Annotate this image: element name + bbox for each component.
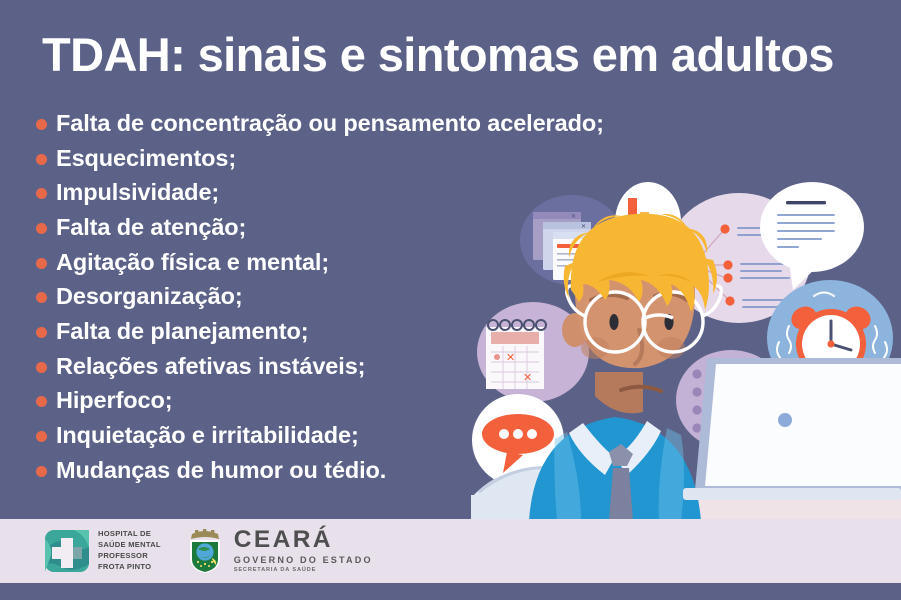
list-item-label: Falta de planejamento;: [56, 318, 308, 345]
ceara-title: CEARÁ: [234, 528, 373, 553]
ceara-department: SECRETARIA DA SAÚDE: [234, 568, 373, 574]
bullet-dot-icon: [36, 258, 47, 269]
ceara-coat-of-arms-icon: [185, 528, 225, 574]
bullet-dot-icon: [36, 292, 47, 303]
list-item: Hiperfoco;: [36, 384, 506, 419]
list-item: Impulsividade;: [36, 175, 506, 210]
bullet-dot-icon: [36, 119, 47, 130]
ceara-subtitle: GOVERNO DO ESTADO: [234, 556, 373, 565]
list-item: Falta de atenção;: [36, 210, 506, 245]
hospital-logo-text: HOSPITAL DE SAÚDE MENTAL PROFESSOR FROTA…: [98, 529, 161, 573]
bottom-strip: [0, 583, 901, 600]
svg-text:✕: ✕: [571, 214, 576, 220]
bullet-dot-icon: [36, 154, 47, 165]
list-item-label: Desorganização;: [56, 283, 243, 310]
list-item: Relações afetivas instáveis;: [36, 349, 506, 384]
list-item-label: Impulsividade;: [56, 179, 219, 206]
illustration-stressed-man: ✕✕✕: [471, 0, 901, 521]
svg-text:✕: ✕: [523, 372, 532, 384]
list-item: Inquietação e irritabilidade;: [36, 418, 506, 453]
ceara-logo-text: CEARÁ GOVERNO DO ESTADO SECRETARIA DA SA…: [234, 528, 373, 573]
list-item-label: Mudanças de humor ou tédio.: [56, 457, 386, 484]
bullet-dot-icon: [36, 362, 47, 373]
hospital-saude-mental-logo: HOSPITAL DE SAÚDE MENTAL PROFESSOR FROTA…: [44, 529, 161, 573]
hospital-line-1: HOSPITAL DE: [98, 529, 161, 540]
list-item: Mudanças de humor ou tédio.: [36, 453, 506, 488]
list-item: Agitação física e mental;: [36, 245, 506, 280]
footer-logos: HOSPITAL DE SAÚDE MENTAL PROFESSOR FROTA…: [44, 527, 373, 575]
bullet-dot-icon: [36, 223, 47, 234]
bullet-dot-icon: [36, 188, 47, 199]
hospital-cross-icon: [44, 529, 90, 573]
list-item-label: Inquietação e irritabilidade;: [56, 422, 359, 449]
list-item-label: Esquecimentos;: [56, 145, 236, 172]
calendar-icon: ✕ ✕: [486, 320, 546, 389]
bullet-dot-icon: [36, 327, 47, 338]
laptop: [683, 358, 901, 500]
svg-text:✕: ✕: [506, 352, 515, 364]
list-item: Esquecimentos;: [36, 141, 506, 176]
list-item: Falta de concentração ou pensamento acel…: [36, 106, 506, 141]
svg-text:✕: ✕: [581, 224, 586, 230]
bullet-dot-icon: [36, 431, 47, 442]
list-item-label: Agitação física e mental;: [56, 249, 329, 276]
hospital-line-4: FROTA PINTO: [98, 562, 161, 573]
list-item: Falta de planejamento;: [36, 314, 506, 349]
list-item-label: Hiperfoco;: [56, 387, 173, 414]
list-item-label: Relações afetivas instáveis;: [56, 353, 365, 380]
ceara-governo-logo: CEARÁ GOVERNO DO ESTADO SECRETARIA DA SA…: [185, 528, 373, 574]
bullet-dot-icon: [36, 396, 47, 407]
hospital-line-3: PROFESSOR: [98, 551, 161, 562]
bullet-dot-icon: [36, 466, 47, 477]
list-item-label: Falta de atenção;: [56, 214, 246, 241]
hospital-line-2: SAÚDE MENTAL: [98, 540, 161, 551]
symptom-list: Falta de concentração ou pensamento acel…: [36, 106, 506, 488]
infographic-poster: TDAH: sinais e sintomas em adultos Falta…: [0, 0, 901, 600]
list-item: Desorganização;: [36, 279, 506, 314]
